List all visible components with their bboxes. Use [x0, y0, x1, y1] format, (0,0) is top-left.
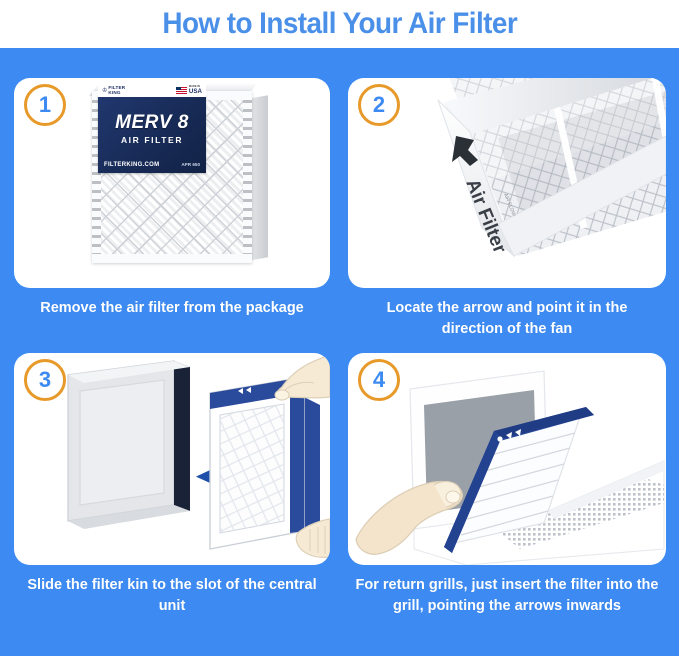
brand-name: FILTER KING — [108, 86, 125, 96]
brand-website: FILTERKING.COM — [104, 162, 159, 168]
label-air-filter-text: AIR FILTER — [98, 135, 206, 145]
step-2-caption: Locate the arrow and point it in the dir… — [348, 298, 666, 340]
step-card-3: 3 — [14, 353, 330, 653]
step-2-image-card: 2 — [348, 78, 666, 288]
steps-grid: 1 ♔ — [0, 48, 679, 656]
infographic-root: How to Install Your Air Filter 1 — [0, 0, 679, 656]
step-4-image-card: 4 — [348, 353, 666, 565]
step-4-caption: For return grills, just insert the filte… — [348, 575, 666, 617]
step-card-1: 1 ♔ — [14, 78, 330, 373]
hand-upper — [275, 355, 330, 400]
step-3-caption: Slide the filter kin to the slot of the … — [14, 575, 330, 617]
brand-line-2: KING — [108, 90, 120, 95]
usa-flag-icon — [176, 87, 187, 94]
step-2-number-badge: 2 — [358, 84, 400, 126]
step-card-2: 2 — [348, 78, 666, 373]
step-1-number: 1 — [39, 94, 51, 116]
air-filter-panel — [210, 377, 320, 549]
header-bar: How to Install Your Air Filter — [0, 0, 679, 48]
usa-text-block: MADE IN USA — [189, 86, 202, 95]
step-3-number-badge: 3 — [24, 359, 66, 401]
step-1-caption: Remove the air filter from the package — [14, 298, 330, 319]
step-card-4: 4 — [348, 353, 666, 653]
step-3-number: 3 — [39, 369, 51, 391]
label-footer: FILTERKING.COM APR 650 — [104, 162, 200, 168]
step-3-image-card: 3 — [14, 353, 330, 565]
step-4-number-badge: 4 — [358, 359, 400, 401]
label-header-strip: ♔ FILTER KING MADE IN — [98, 84, 206, 97]
product-label: ♔ FILTER KING MADE IN — [98, 95, 206, 173]
merv-rating: MERV 8 — [98, 113, 206, 132]
central-unit-slot — [68, 361, 190, 529]
made-in-usa-mark: MADE IN USA — [176, 86, 202, 95]
step-1-image-card: 1 ♔ — [14, 78, 330, 288]
crown-icon: ♔ — [102, 88, 107, 94]
filter-king-logo: ♔ FILTER KING — [102, 86, 125, 96]
step-2-number: 2 — [373, 94, 385, 116]
usa-text: USA — [189, 89, 202, 95]
apr-rating: APR 650 — [181, 162, 200, 167]
filter-body: ♔ FILTER KING MADE IN — [92, 91, 252, 263]
step-1-number-badge: 1 — [24, 84, 66, 126]
filter-perforation-right — [243, 100, 252, 254]
page-title: How to Install Your Air Filter — [162, 9, 517, 39]
step-4-number: 4 — [373, 369, 385, 391]
